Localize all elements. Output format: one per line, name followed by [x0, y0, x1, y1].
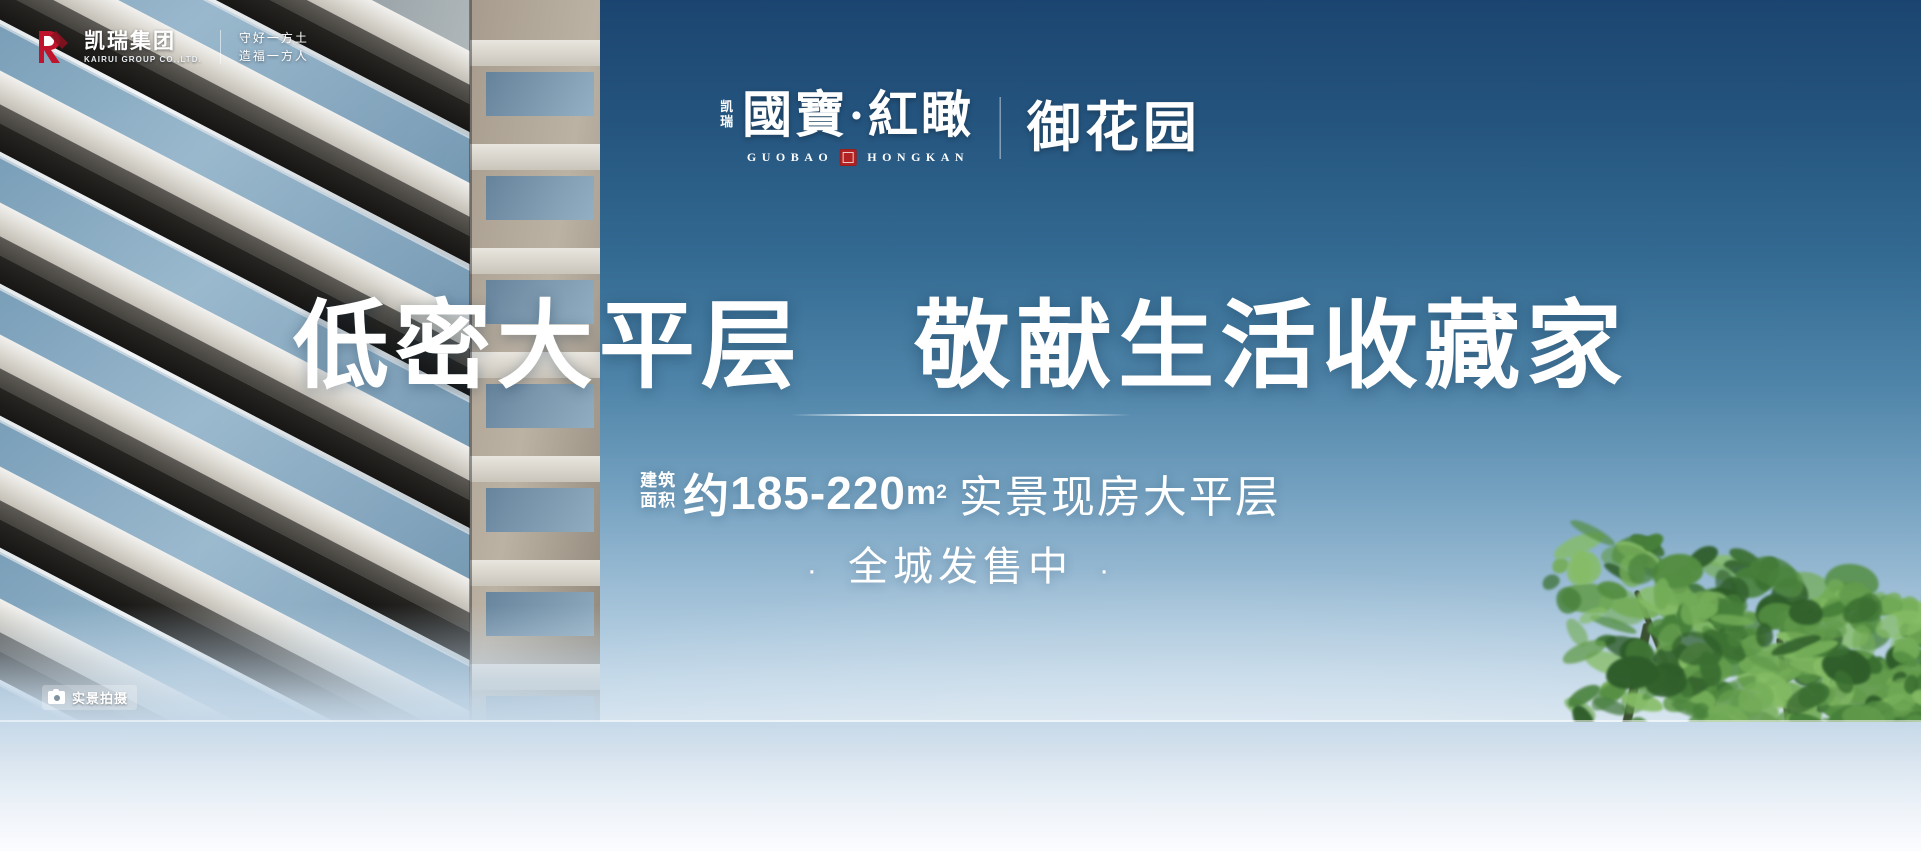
tagline-text: 全城发售中	[848, 545, 1073, 589]
tagline-dot-right: ·	[1099, 554, 1114, 587]
lockup-divider	[1000, 97, 1001, 159]
area-unit: m	[906, 474, 936, 513]
project-sub-brand: 御花园	[1027, 101, 1201, 155]
slogan-line-1: 守好一方土	[239, 31, 309, 46]
headline-divider	[791, 414, 1131, 416]
facade-band	[470, 456, 600, 482]
corporate-name-cn: 凯瑞集团	[84, 31, 202, 52]
sales-status-tagline: · 全城发售中 ·	[797, 534, 1124, 592]
bottom-white-strip	[0, 722, 1921, 851]
area-approx: 约	[683, 460, 730, 526]
camera-icon	[48, 691, 65, 704]
red-seal-icon	[839, 149, 856, 166]
facade-band	[470, 40, 600, 66]
kairui-r-monogram-icon	[36, 29, 70, 65]
slogan-line-2: 造福一方人	[239, 49, 309, 64]
corporate-name-en: KAIRUI GROUP CO.,LTD.	[84, 56, 202, 64]
photo-credit-label: 实景拍摄	[72, 688, 128, 707]
corporate-name-block: 凯瑞集团 KAIRUI GROUP CO.,LTD.	[84, 31, 202, 64]
real-estate-banner: 凯瑞集团 KAIRUI GROUP CO.,LTD. 守好一方土 造福一方人 凯…	[0, 0, 1921, 851]
roman-left: GUOBAO	[747, 150, 833, 165]
facade-window	[486, 488, 594, 532]
project-brand-left: 凯 瑞 國寶·紅瞰 GUOBAO HONGKAN	[720, 90, 974, 166]
area-label-line-2: 面积	[640, 491, 676, 511]
subtitle-specs: 建筑 面积 约 185-220 m 2 实景现房大平层	[640, 460, 1281, 526]
roman-right: HONGKAN	[867, 150, 969, 165]
project-prefix-line-1: 凯	[720, 100, 734, 115]
project-name-cn: 國寶·紅瞰	[742, 90, 974, 140]
headline-part-2: 敬献生活收藏家	[914, 293, 1628, 400]
facade-window	[486, 72, 594, 116]
area-label-line-1: 建筑	[640, 471, 676, 491]
project-prefix: 凯 瑞	[720, 90, 734, 129]
corporate-divider	[220, 30, 221, 64]
project-romanization: GUOBAO HONGKAN	[747, 149, 969, 166]
page-title: 低密大平层 敬献生活收藏家	[293, 268, 1628, 407]
headline-part-1: 低密大平层	[293, 293, 803, 400]
facade-window	[486, 176, 594, 220]
project-logo-lockup[interactable]: 凯 瑞 國寶·紅瞰 GUOBAO HONGKAN 御花园	[720, 90, 1201, 166]
area-label: 建筑 面积	[640, 471, 676, 514]
tagline-dot-left: ·	[807, 554, 822, 587]
subtitle-description: 实景现房大平层	[959, 461, 1281, 525]
project-name-wrap: 國寶·紅瞰 GUOBAO HONGKAN	[742, 90, 974, 166]
corporate-slogan: 守好一方土 造福一方人	[239, 31, 309, 64]
area-unit-exponent: 2	[936, 482, 947, 504]
facade-band	[470, 560, 600, 586]
facade-band	[470, 144, 600, 170]
project-prefix-line-2: 瑞	[720, 115, 734, 130]
area-range: 185-220	[730, 466, 906, 520]
corporate-logo[interactable]: 凯瑞集团 KAIRUI GROUP CO.,LTD. 守好一方土 造福一方人	[36, 29, 309, 65]
photo-credit-badge: 实景拍摄	[42, 685, 137, 710]
